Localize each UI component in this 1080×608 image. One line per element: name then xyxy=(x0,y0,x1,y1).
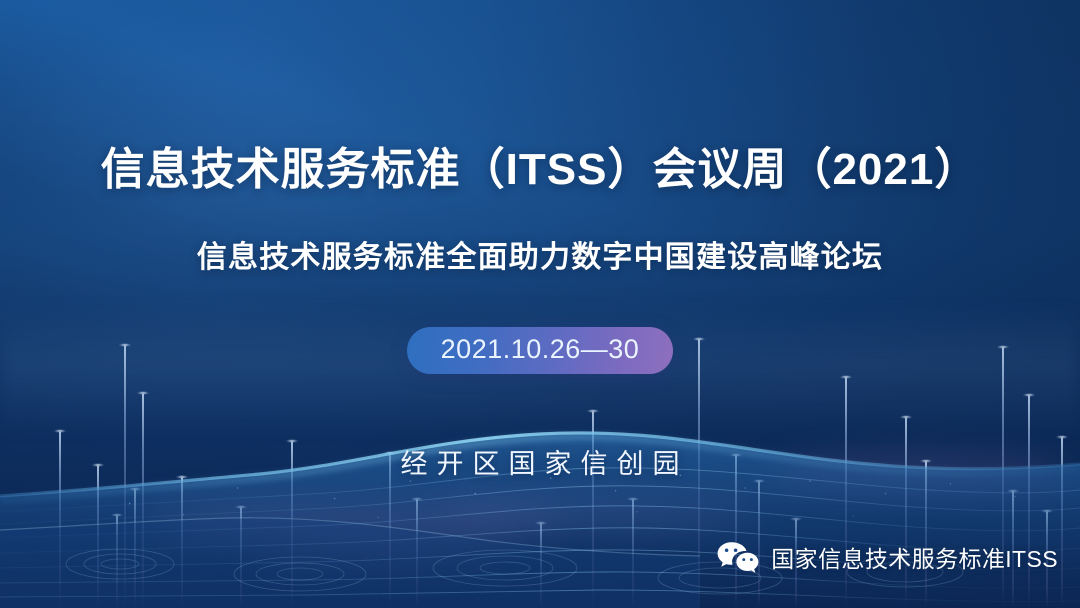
date-badge-container: 2021.10.26—30 xyxy=(0,327,1080,374)
page-title: 信息技术服务标准（ITSS）会议周（2021） xyxy=(0,146,1080,194)
page-subtitle: 信息技术服务标准全面助力数字中国建设高峰论坛 xyxy=(0,232,1080,276)
watermark-label: 国家信息技术服务标准ITSS xyxy=(771,540,1058,574)
poster-content: 信息技术服务标准（ITSS）会议周（2021） 信息技术服务标准全面助力数字中国… xyxy=(0,0,1080,608)
event-date-badge: 2021.10.26—30 xyxy=(407,327,674,374)
event-venue: 经开区国家信创园 xyxy=(0,442,1080,481)
wechat-watermark: 国家信息技术服务标准ITSS xyxy=(716,540,1058,574)
itss-conference-poster: 信息技术服务标准（ITSS）会议周（2021） 信息技术服务标准全面助力数字中国… xyxy=(0,0,1080,608)
wechat-icon xyxy=(716,540,760,574)
